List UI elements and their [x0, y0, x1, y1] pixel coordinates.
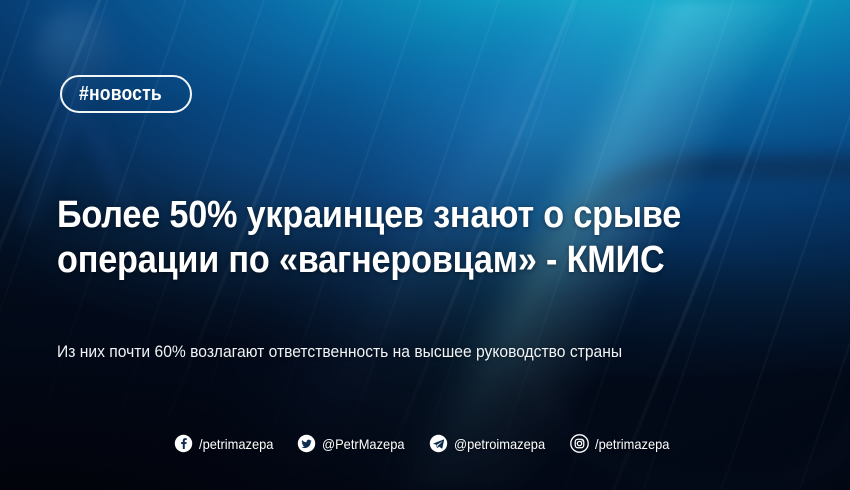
- twitter-handle: @PetrMazepa: [322, 436, 405, 452]
- telegram-icon: [429, 434, 448, 453]
- headline: Более 50% украинцев знают о срыве операц…: [57, 193, 723, 283]
- social-link-telegram[interactable]: @petroimazepa: [429, 434, 553, 453]
- twitter-icon: [297, 434, 316, 453]
- category-badge-label: #новость: [79, 83, 162, 106]
- category-badge[interactable]: #новость: [60, 75, 192, 113]
- news-card: #новость Более 50% украинцев знают о сры…: [0, 0, 850, 490]
- subtitle: Из них почти 60% возлагают ответственнос…: [57, 340, 756, 363]
- social-links-bar: /petrimazepa @PetrMazepa @petroimazepa: [0, 434, 850, 453]
- instagram-icon: [570, 434, 589, 453]
- instagram-handle: /petrimazepa: [595, 436, 669, 452]
- telegram-handle: @petroimazepa: [454, 436, 545, 452]
- card-content: #новость Более 50% украинцев знают о сры…: [0, 0, 850, 490]
- social-link-facebook[interactable]: /petrimazepa: [174, 434, 280, 453]
- social-link-instagram[interactable]: /petrimazepa: [570, 434, 676, 453]
- facebook-icon: [174, 434, 193, 453]
- social-link-twitter[interactable]: @PetrMazepa: [297, 434, 412, 453]
- facebook-handle: /petrimazepa: [199, 436, 273, 452]
